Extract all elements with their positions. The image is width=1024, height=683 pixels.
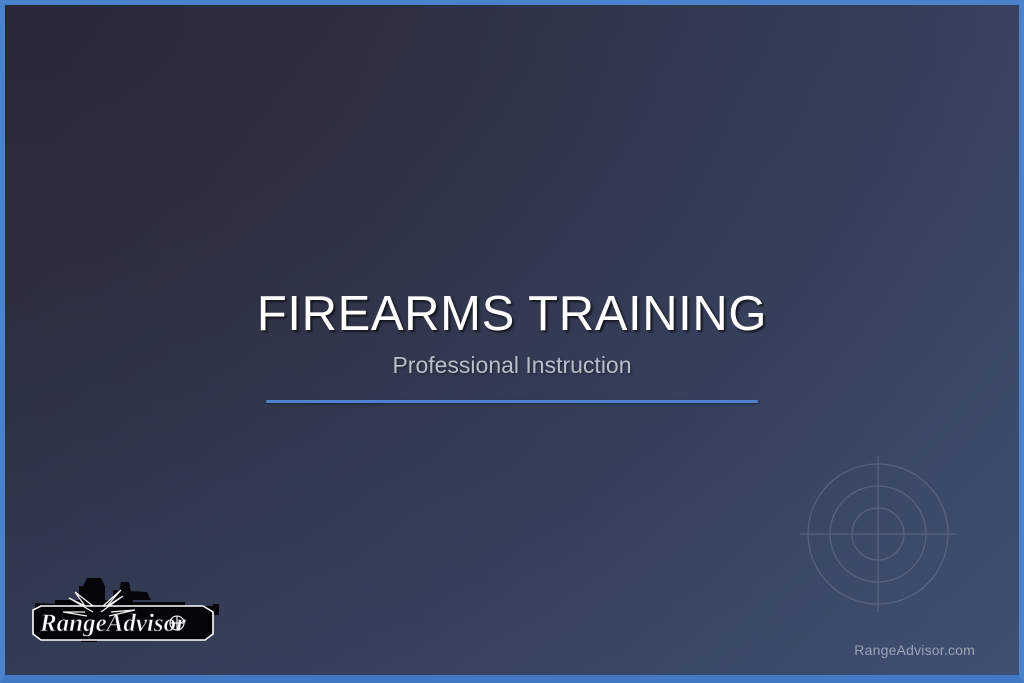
footer-url: RangeAdvisor.com: [854, 642, 975, 658]
page-subtitle: Professional Instruction: [5, 353, 1019, 378]
brand-logo: RangeAdvisor: [27, 568, 267, 653]
title-block: FIREARMS TRAINING Professional Instructi…: [5, 288, 1019, 403]
page-title: FIREARMS TRAINING: [5, 288, 1019, 341]
logo-text: RangeAdvisor: [39, 610, 186, 637]
title-slide: FIREARMS TRAINING Professional Instructi…: [0, 0, 1024, 683]
accent-divider: [266, 400, 758, 403]
